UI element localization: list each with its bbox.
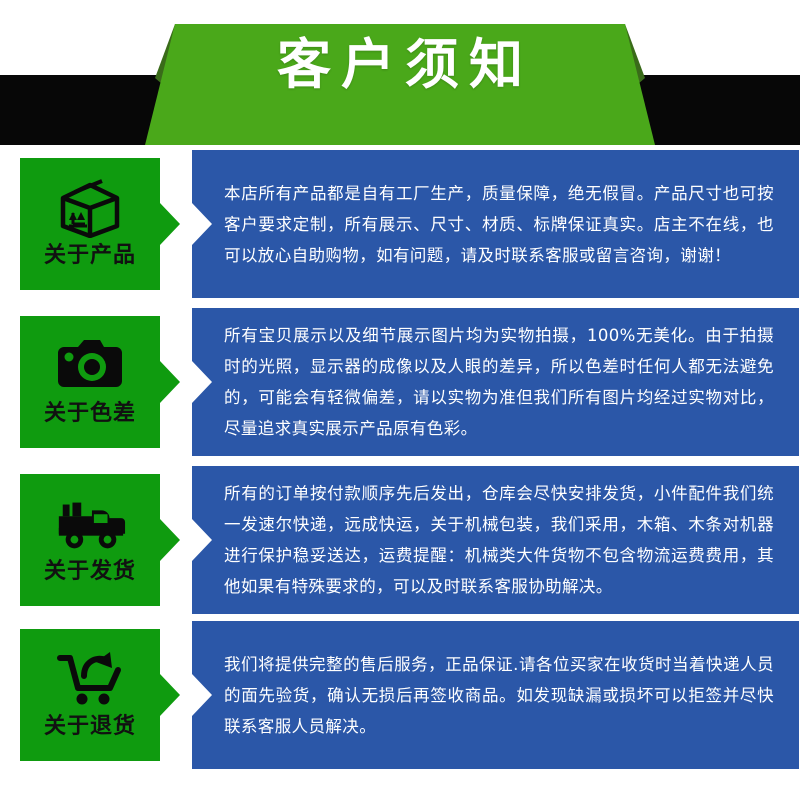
text-panel-shipping: 所有的订单按付款顺序先后发出，仓库会尽快安排发货，小件配件我们统一发速尔快递，远… [192,466,799,614]
icon-card-label: 关于色差 [44,399,136,429]
return-cart-icon [53,648,127,710]
notice-sections: 关于产品 本店所有产品都是自有工厂生产，质量保障，绝无假冒。产品尺寸也可按客户要… [0,150,800,771]
icon-card-label: 关于退货 [44,712,136,742]
page-title: 客户须知 [0,30,800,100]
text-panel-product: 本店所有产品都是自有工厂生产，质量保障，绝无假冒。产品尺寸也可按客户要求定制，所… [192,150,799,298]
package-box-icon [53,177,127,239]
notice-row-product: 关于产品 本店所有产品都是自有工厂生产，质量保障，绝无假冒。产品尺寸也可按客户要… [0,150,800,308]
icon-card-label: 关于产品 [44,241,136,271]
notice-text: 所有宝贝展示以及细节展示图片均为实物拍摄，100%无美化。由于拍摄时的光照，显示… [224,320,774,444]
icon-card-return[interactable]: 关于退货 [20,629,180,761]
camera-icon [53,335,127,397]
notice-row-return: 关于退货 我们将提供完整的售后服务，正品保证.请各位买家在收货时当着快递人员的面… [0,621,800,771]
notice-text: 所有的订单按付款顺序先后发出，仓库会尽快安排发货，小件配件我们统一发速尔快递，远… [224,478,774,602]
notice-row-color: 关于色差 所有宝贝展示以及细节展示图片均为实物拍摄，100%无美化。由于拍摄时的… [0,308,800,466]
notice-text: 我们将提供完整的售后服务，正品保证.请各位买家在收货时当着快递人员的面先验货，确… [224,649,774,742]
notice-text: 本店所有产品都是自有工厂生产，质量保障，绝无假冒。产品尺寸也可按客户要求定制，所… [224,178,774,271]
icon-card-label: 关于发货 [44,557,136,587]
icon-card-shipping[interactable]: 关于发货 [20,474,180,606]
notice-row-shipping: 关于发货 所有的订单按付款顺序先后发出，仓库会尽快安排发货，小件配件我们统一发速… [0,466,800,621]
header-banner: 客户须知 [0,0,800,150]
icon-card-product[interactable]: 关于产品 [20,158,180,290]
text-panel-return: 我们将提供完整的售后服务，正品保证.请各位买家在收货时当着快递人员的面先验货，确… [192,621,799,769]
text-panel-color: 所有宝贝展示以及细节展示图片均为实物拍摄，100%无美化。由于拍摄时的光照，显示… [192,308,799,456]
delivery-truck-icon [53,493,127,555]
icon-card-color[interactable]: 关于色差 [20,316,180,448]
